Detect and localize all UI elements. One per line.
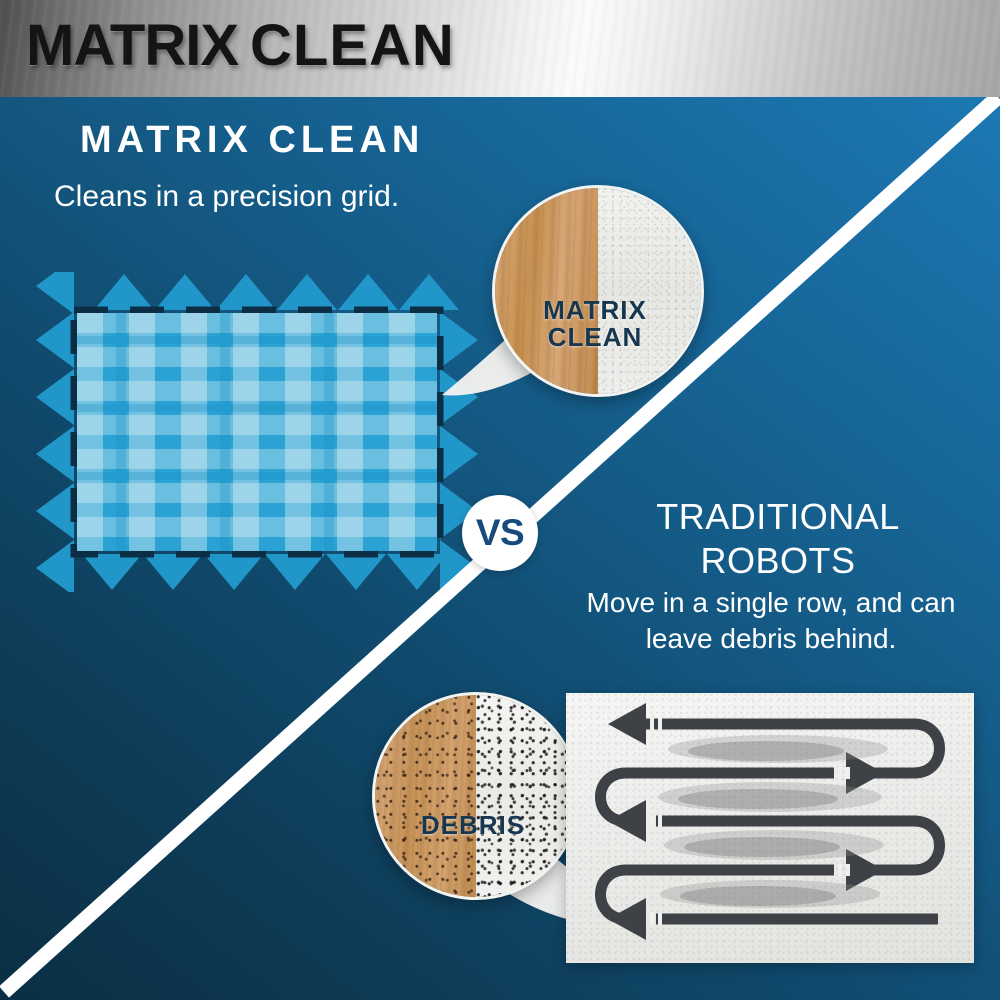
brand-logo: MATRIXCLEAN	[26, 17, 455, 75]
vs-label: VS	[476, 512, 524, 554]
matrix-clean-badge-line2: CLEAN	[492, 324, 698, 351]
matrix-clean-badge-label: MATRIX CLEAN	[492, 297, 698, 352]
brand-header: MATRIXCLEAN	[0, 0, 1000, 97]
right-heading: TRADITIONAL ROBOTS	[588, 495, 968, 583]
matrix-clean-badge-line1: MATRIX	[492, 297, 698, 324]
infographic-canvas: MATRIXCLEAN	[0, 0, 1000, 1000]
left-heading: MATRIX CLEAN	[80, 119, 424, 162]
carpet-dirty	[476, 695, 577, 897]
grid-arrows-bottom	[82, 554, 447, 590]
right-subheading: Move in a single row, and can leave debr…	[556, 585, 986, 657]
vs-badge: VS	[462, 495, 538, 571]
carpet-clean	[598, 188, 701, 394]
path-svg	[566, 693, 974, 963]
debris-badge-label: DEBRIS	[372, 812, 574, 839]
comparison-panel: MATRIX CLEAN Cleans in a precision grid.…	[0, 97, 1000, 1000]
left-subheading: Cleans in a precision grid.	[54, 180, 399, 214]
logo-word-matrix: MATRIX	[26, 13, 238, 78]
wood-floor-dirty	[375, 695, 476, 897]
grid-arrows-left	[36, 272, 74, 592]
traditional-path-diagram	[566, 693, 974, 963]
matrix-clean-circle	[492, 185, 704, 397]
matrix-clean-callout: MATRIX CLEAN	[468, 185, 718, 435]
debris-circle	[372, 692, 580, 900]
wood-floor-clean	[495, 188, 598, 394]
logo-word-clean: CLEAN	[250, 13, 455, 78]
grid-arrows-top	[94, 274, 459, 310]
